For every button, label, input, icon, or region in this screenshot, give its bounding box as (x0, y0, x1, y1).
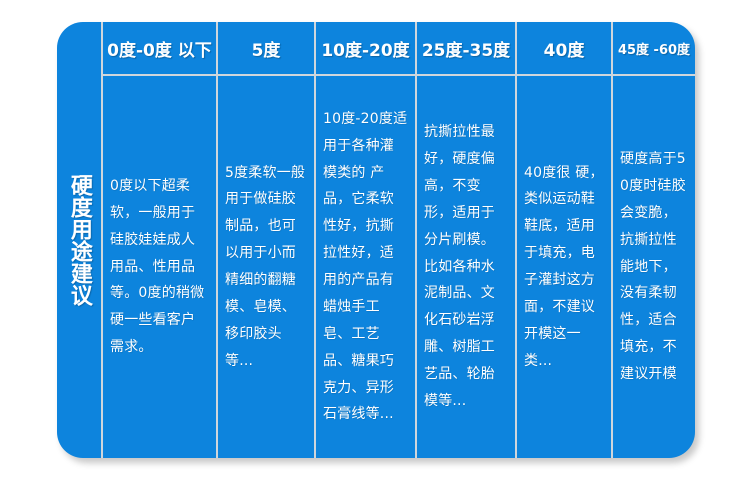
column-header: 40度 (517, 22, 611, 76)
table-cell-text: 0度以下超柔软，一般用于硅胶娃娃成人用品、性用品等。0度的稍微硬一些看客户需求。 (110, 173, 209, 361)
column-10-20-degree: 10度-20度 10度-20度适用于各种灌模类的 产品，它柔软性好，抗撕拉性好，… (316, 22, 417, 458)
table-cell: 40度很 硬，类似运动鞋鞋底，适用于填充，电子灌封这方面，不建议开模这一类... (517, 76, 611, 458)
table-cell-text: 5度柔软一般用于做硅胶制品，也可以用于小而精细的翻糖模、皂模、移印胶头等... (225, 160, 307, 375)
table-cell: 0度以下超柔软，一般用于硅胶娃娃成人用品、性用品等。0度的稍微硬一些看客户需求。 (103, 76, 216, 458)
table-cell-text: 抗撕拉性最好，硬度偏高，不变形，适用于分片刷模。比如各种水泥制品、文化石砂岩浮雕… (424, 119, 508, 415)
column-25-35-degree: 25度-35度 抗撕拉性最好，硬度偏高，不变形，适用于分片刷模。比如各种水泥制品… (417, 22, 517, 458)
table-cell-text: 40度很 硬，类似运动鞋鞋底，适用于填充，电子灌封这方面，不建议开模这一类... (524, 160, 604, 375)
column-5-degree: 5度 5度柔软一般用于做硅胶制品，也可以用于小而精细的翻糖模、皂模、移印胶头等.… (218, 22, 316, 458)
hardness-usage-table: 硬度用途建议 0度-0度 以下 0度以下超柔软，一般用于硅胶娃娃成人用品、性用品… (57, 22, 695, 458)
table-cell: 抗撕拉性最好，硬度偏高，不变形，适用于分片刷模。比如各种水泥制品、文化石砂岩浮雕… (417, 76, 515, 458)
column-header: 25度-35度 (417, 22, 515, 76)
table-cell-text: 硬度高于50度时硅胶会变脆，抗撕拉性能地下，没有柔韧性，适合填充，不建议开模 (620, 146, 688, 388)
column-header: 45度 -60度 (613, 22, 695, 76)
table-cell: 硬度高于50度时硅胶会变脆，抗撕拉性能地下，没有柔韧性，适合填充，不建议开模 (613, 76, 695, 458)
column-header: 5度 (218, 22, 314, 76)
column-header: 0度-0度 以下 (103, 22, 216, 76)
row-label-text: 硬度用途建议 (61, 174, 97, 306)
row-label-cell: 硬度用途建议 (57, 22, 103, 458)
table-cell: 5度柔软一般用于做硅胶制品，也可以用于小而精细的翻糖模、皂模、移印胶头等... (218, 76, 314, 458)
column-40-degree: 40度 40度很 硬，类似运动鞋鞋底，适用于填充，电子灌封这方面，不建议开模这一… (517, 22, 613, 458)
column-header: 10度-20度 (316, 22, 415, 76)
table-cell: 10度-20度适用于各种灌模类的 产品，它柔软性好，抗撕拉性好，适用的产品有蜡烛… (316, 76, 415, 458)
data-columns: 0度-0度 以下 0度以下超柔软，一般用于硅胶娃娃成人用品、性用品等。0度的稍微… (103, 22, 695, 458)
column-45-60-degree: 45度 -60度 硬度高于50度时硅胶会变脆，抗撕拉性能地下，没有柔韧性，适合填… (613, 22, 695, 458)
column-0-0-degree: 0度-0度 以下 0度以下超柔软，一般用于硅胶娃娃成人用品、性用品等。0度的稍微… (103, 22, 218, 458)
table-cell-text: 10度-20度适用于各种灌模类的 产品，它柔软性好，抗撕拉性好，适用的产品有蜡烛… (323, 106, 408, 429)
